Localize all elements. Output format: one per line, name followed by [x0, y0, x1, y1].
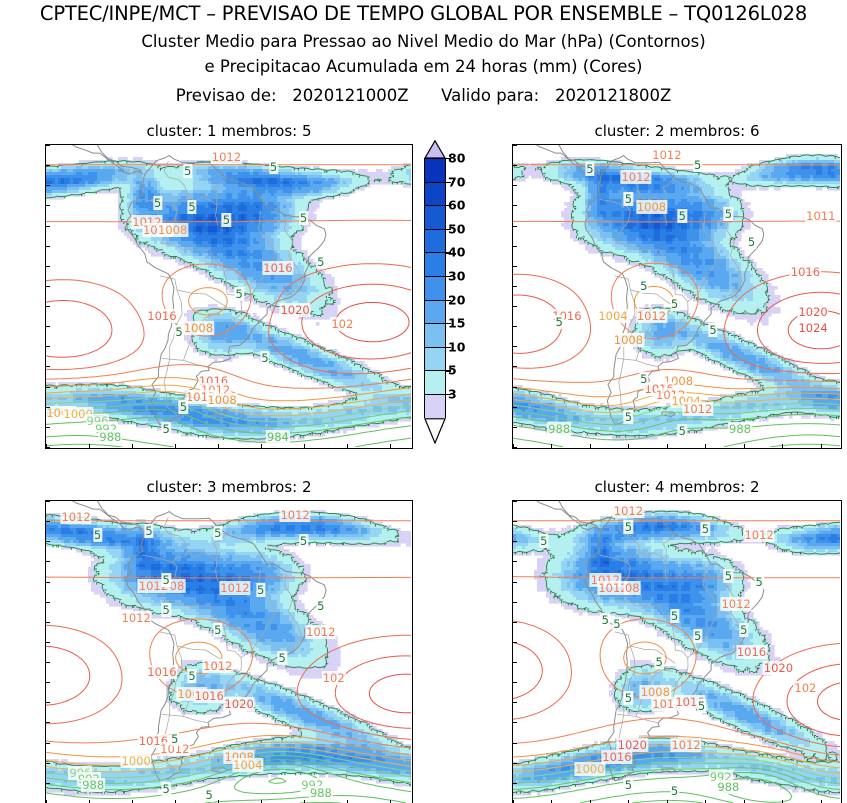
map-graphics	[46, 501, 411, 803]
colorbar-tick	[446, 182, 451, 183]
y-axis-tick	[513, 783, 517, 784]
panel-title-cluster-2: cluster: 2 membros: 6	[512, 122, 842, 140]
y-axis-tick	[46, 145, 50, 146]
colorbar-tick	[446, 229, 451, 230]
colorbar-band	[425, 230, 445, 254]
y-axis-tick	[46, 662, 50, 663]
y-axis-tick	[46, 185, 50, 186]
subtitle-line-2: e Precipitacao Acumulada em 24 horas (mm…	[0, 57, 847, 76]
y-axis-tick	[46, 763, 50, 764]
y-axis-tick	[513, 582, 517, 583]
subtitle-line-1: Cluster Medio para Pressao ao Nivel Medi…	[0, 32, 847, 51]
x-axis-tick	[590, 444, 591, 448]
y-axis-tick	[513, 743, 517, 744]
y-axis-tick	[46, 722, 50, 723]
colorbar-band	[425, 206, 445, 230]
y-axis-tick	[513, 326, 517, 327]
colorbar-band	[425, 348, 445, 372]
x-axis-tick	[390, 444, 391, 448]
colorbar-tick	[446, 323, 451, 324]
x-axis-tick	[304, 444, 305, 448]
y-axis-tick	[513, 622, 517, 623]
colorbar-bands	[424, 158, 446, 418]
map-plot-area-cluster-1: 1012101210121008101610201021016100810161…	[45, 144, 413, 449]
forecast-timestamps: Previsao de: 2020121000Z Valido para: 20…	[0, 86, 847, 105]
colorbar-under-arrow-icon	[424, 418, 446, 436]
y-axis-tick	[513, 346, 517, 347]
y-axis-tick	[46, 501, 50, 502]
panel-title-cluster-3: cluster: 3 membros: 2	[45, 478, 413, 496]
y-axis-tick	[513, 306, 517, 307]
map-panel-cluster-2: cluster: 2 membros: 61012101210081011101…	[512, 122, 842, 449]
y-axis-tick	[46, 602, 50, 603]
y-axis-tick	[46, 266, 50, 267]
page-title: CPTEC/INPE/MCT – PREVISAO DE TEMPO GLOBA…	[0, 2, 847, 25]
y-axis-tick	[46, 306, 50, 307]
precipitation-fill	[46, 157, 411, 443]
y-axis-tick	[46, 286, 50, 287]
colorbar-tick	[446, 394, 451, 395]
y-axis-tick	[46, 743, 50, 744]
y-axis-tick	[513, 286, 517, 287]
y-axis-tick	[46, 427, 50, 428]
colorbar-tick	[446, 252, 451, 253]
y-axis-tick	[46, 346, 50, 347]
precipitation-colorbar: 80706050403020151053	[424, 140, 484, 440]
x-axis-tick	[551, 444, 552, 448]
colorbar-tick	[446, 370, 451, 371]
y-axis-tick	[46, 165, 50, 166]
map-panel-cluster-3: cluster: 3 membros: 21012101210120810121…	[45, 478, 413, 803]
map-graphics	[513, 145, 840, 447]
colorbar-band	[425, 253, 445, 277]
colorbar-band	[425, 159, 445, 183]
y-axis-tick	[46, 561, 50, 562]
y-axis-tick	[46, 582, 50, 583]
colorbar-tick	[446, 300, 451, 301]
x-axis-tick	[513, 444, 514, 448]
forecast-from-label: Previsao de:	[176, 86, 277, 105]
y-axis-tick	[46, 246, 50, 247]
y-axis-tick	[513, 602, 517, 603]
colorbar-band	[425, 395, 445, 419]
map-panel-cluster-1: cluster: 1 membros: 51012101210121008101…	[45, 122, 413, 449]
colorbar-tick	[446, 158, 451, 159]
y-axis-tick	[513, 205, 517, 206]
valid-for-label: Valido para:	[441, 86, 539, 105]
y-axis-tick	[46, 702, 50, 703]
y-axis-tick	[513, 722, 517, 723]
forecast-from-value: 2020121000Z	[292, 86, 408, 105]
x-axis-tick	[782, 444, 783, 448]
x-axis-tick	[667, 444, 668, 448]
y-axis-tick	[46, 622, 50, 623]
y-axis-tick	[513, 407, 517, 408]
map-graphics	[513, 501, 840, 803]
colorbar-band	[425, 324, 445, 348]
x-axis-tick	[347, 444, 348, 448]
x-axis-tick	[218, 444, 219, 448]
x-axis-tick	[628, 444, 629, 448]
map-plot-area-cluster-2: 1012101210081011101610201024101610041012…	[512, 144, 842, 449]
y-axis-tick	[513, 145, 517, 146]
y-axis-tick	[46, 407, 50, 408]
colorbar-band	[425, 277, 445, 301]
x-axis-tick	[821, 444, 822, 448]
y-axis-tick	[46, 642, 50, 643]
y-axis-tick	[46, 521, 50, 522]
y-axis-tick	[513, 521, 517, 522]
x-axis-tick	[261, 444, 262, 448]
colorbar-tick	[446, 276, 451, 277]
y-axis-tick	[513, 642, 517, 643]
y-axis-tick	[513, 246, 517, 247]
y-axis-tick	[513, 662, 517, 663]
y-axis-tick	[513, 427, 517, 428]
y-axis-tick	[46, 226, 50, 227]
panel-title-cluster-1: cluster: 1 membros: 5	[45, 122, 413, 140]
colorbar-band	[425, 371, 445, 395]
y-axis-tick	[513, 266, 517, 267]
colorbar-tick	[446, 347, 451, 348]
y-axis-tick	[513, 501, 517, 502]
y-axis-tick	[46, 541, 50, 542]
x-axis-tick	[132, 444, 133, 448]
colorbar-band	[425, 301, 445, 325]
y-axis-tick	[46, 366, 50, 367]
colorbar-tick	[446, 205, 451, 206]
valid-for-value: 2020121800Z	[555, 86, 671, 105]
y-axis-tick	[513, 165, 517, 166]
x-axis-tick	[744, 444, 745, 448]
map-plot-area-cluster-3: 1012101210120810121012101210161012102100…	[45, 500, 413, 803]
map-panel-cluster-4: cluster: 4 membros: 21012101210121012081…	[512, 478, 842, 803]
y-axis-tick	[46, 326, 50, 327]
y-axis-tick	[513, 561, 517, 562]
colorbar-over-arrow-icon	[424, 140, 446, 158]
panel-title-cluster-4: cluster: 4 membros: 2	[512, 478, 842, 496]
precipitation-fill	[46, 510, 411, 796]
y-axis-tick	[46, 783, 50, 784]
map-graphics	[46, 145, 411, 447]
y-axis-tick	[46, 682, 50, 683]
map-plot-area-cluster-4: 1012101210121012081012101610201021008101…	[512, 500, 842, 803]
x-axis-tick	[89, 444, 90, 448]
y-axis-tick	[513, 387, 517, 388]
x-axis-tick	[46, 444, 47, 448]
y-axis-tick	[46, 387, 50, 388]
y-axis-tick	[513, 366, 517, 367]
y-axis-tick	[513, 541, 517, 542]
y-axis-tick	[513, 702, 517, 703]
y-axis-tick	[46, 205, 50, 206]
y-axis-tick	[513, 185, 517, 186]
x-axis-tick	[175, 444, 176, 448]
y-axis-tick	[513, 763, 517, 764]
y-axis-tick	[513, 682, 517, 683]
x-axis-tick	[705, 444, 706, 448]
y-axis-tick	[513, 226, 517, 227]
colorbar-band	[425, 183, 445, 207]
